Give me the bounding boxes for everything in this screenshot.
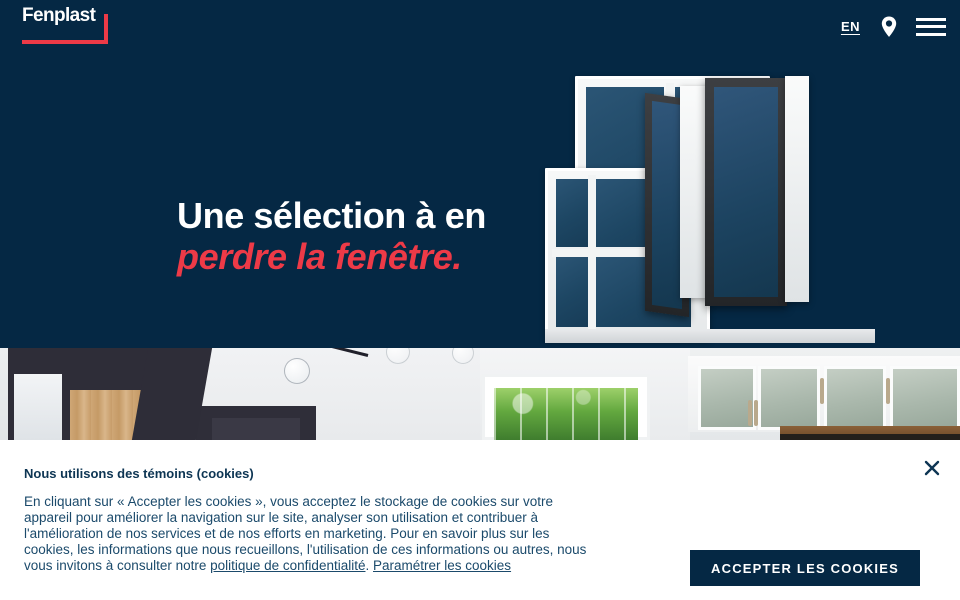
photo-left-pendant-bulb [284, 358, 310, 384]
language-switch-en[interactable]: EN [839, 15, 862, 38]
hero-headline-line1: Une sélection à en [177, 195, 607, 236]
lifestyle-photo-strip [0, 348, 960, 440]
logo-wordmark: Fenplast [22, 4, 95, 28]
logo-bracket-horizontal [22, 40, 108, 44]
kitchen-photo-right [480, 348, 960, 440]
window-black-frame-right [705, 78, 787, 306]
close-x-icon-svg [924, 460, 940, 476]
burger-bar-3 [916, 33, 946, 36]
privacy-policy-link[interactable]: politique de confidentialité [210, 558, 365, 573]
hero-window-product-image [545, 58, 875, 343]
cookie-settings-link[interactable]: Paramétrer les cookies [373, 558, 511, 573]
photo-right-handle-4 [886, 378, 890, 404]
photo-left-door-panel [212, 418, 300, 440]
site-header: Fenplast EN [0, 0, 960, 53]
close-x-icon[interactable] [922, 458, 942, 478]
photo-right-foliage-view [494, 388, 638, 440]
cookie-banner-title: Nous utilisons des témoins (cookies) [24, 466, 254, 481]
fenplast-logo[interactable]: Fenplast [22, 4, 108, 44]
burger-bar-2 [916, 25, 946, 28]
photo-right-handle-1 [748, 400, 752, 426]
photo-right-handle-2 [754, 400, 758, 426]
cookie-banner-text: En cliquant sur « Accepter les cookies »… [24, 494, 594, 574]
burger-bar-1 [916, 18, 946, 21]
cookie-text-part2: . [365, 558, 373, 573]
window-white-edge-right [785, 76, 809, 302]
photo-left-glass [14, 374, 62, 440]
hero-headline: Une sélection à en perdre la fenêtre. [177, 195, 607, 277]
window-white-sash-open [680, 86, 708, 298]
interior-photo-left [0, 348, 480, 440]
hamburger-menu-icon[interactable] [916, 16, 946, 38]
photo-right-cabinet-4 [890, 366, 960, 430]
photo-right-handle-3 [820, 378, 824, 404]
location-pin-icon[interactable] [878, 15, 900, 39]
hero-headline-line2: perdre la fenêtre. [177, 236, 607, 277]
accept-cookies-button[interactable]: ACCEPTER LES COOKIES [690, 550, 920, 586]
location-pin-icon-svg [878, 15, 900, 39]
header-actions: EN [839, 0, 946, 53]
photo-right-cabinet-2 [758, 366, 820, 430]
page-root: Fenplast EN Une sélection à en perdre [0, 0, 960, 600]
photo-right-cabinet-3 [824, 366, 886, 430]
hero-banner: Une sélection à en perdre la fenêtre. [0, 53, 960, 348]
window-sill [545, 329, 875, 343]
